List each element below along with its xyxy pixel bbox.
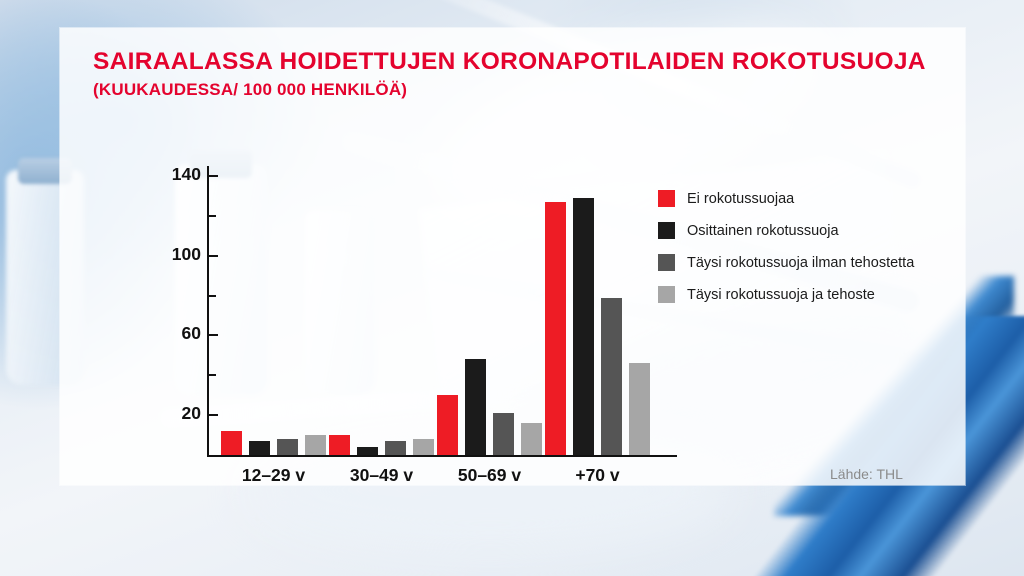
- bar: [329, 435, 350, 455]
- bar: [493, 413, 514, 455]
- bar: [357, 447, 378, 455]
- bar: [221, 431, 242, 455]
- bar-series-area: [209, 166, 679, 455]
- bar: [437, 395, 458, 455]
- bar-group: [545, 166, 650, 455]
- bar: [249, 441, 270, 455]
- legend-swatch-icon: [658, 190, 675, 207]
- legend-item[interactable]: Täysi rokotussuoja ilman tehostetta: [658, 250, 914, 275]
- bar-group: [221, 166, 326, 455]
- bar: [601, 298, 622, 455]
- x-tick-label: +70 v: [533, 465, 662, 486]
- bar: [277, 439, 298, 455]
- source-note: Lähde: THL: [830, 466, 903, 482]
- legend-item[interactable]: Täysi rokotussuoja ja tehoste: [658, 282, 914, 307]
- y-tick-label: 100: [143, 244, 201, 265]
- y-axis-labels: 2060100140: [143, 28, 201, 485]
- y-tick-label: 60: [143, 323, 201, 344]
- legend-item[interactable]: Osittainen rokotussuoja: [658, 218, 914, 243]
- bar: [521, 423, 542, 455]
- bar: [629, 363, 650, 455]
- legend-swatch-icon: [658, 254, 675, 271]
- legend-item[interactable]: Ei rokotussuojaa: [658, 186, 914, 211]
- bar: [385, 441, 406, 455]
- legend-label: Täysi rokotussuoja ilman tehostetta: [687, 255, 914, 271]
- legend-label: Osittainen rokotussuoja: [687, 223, 839, 239]
- screenshot-root: SAIRAALASSA HOIDETTUJEN KORONAPOTILAIDEN…: [0, 0, 1024, 576]
- legend-label: Ei rokotussuojaa: [687, 191, 794, 207]
- y-tick-label: 20: [143, 403, 201, 424]
- bar: [545, 202, 566, 455]
- bar-group: [437, 166, 542, 455]
- chart-legend: Ei rokotussuojaaOsittainen rokotussuojaT…: [658, 186, 914, 314]
- bar: [465, 359, 486, 455]
- bar-group: [329, 166, 434, 455]
- bar: [305, 435, 326, 455]
- x-axis: [207, 455, 677, 457]
- y-tick-label: 140: [143, 164, 201, 185]
- chart-card: SAIRAALASSA HOIDETTUJEN KORONAPOTILAIDEN…: [60, 28, 965, 485]
- legend-label: Täysi rokotussuoja ja tehoste: [687, 287, 875, 303]
- legend-swatch-icon: [658, 222, 675, 239]
- legend-swatch-icon: [658, 286, 675, 303]
- bar: [573, 198, 594, 455]
- bar: [413, 439, 434, 455]
